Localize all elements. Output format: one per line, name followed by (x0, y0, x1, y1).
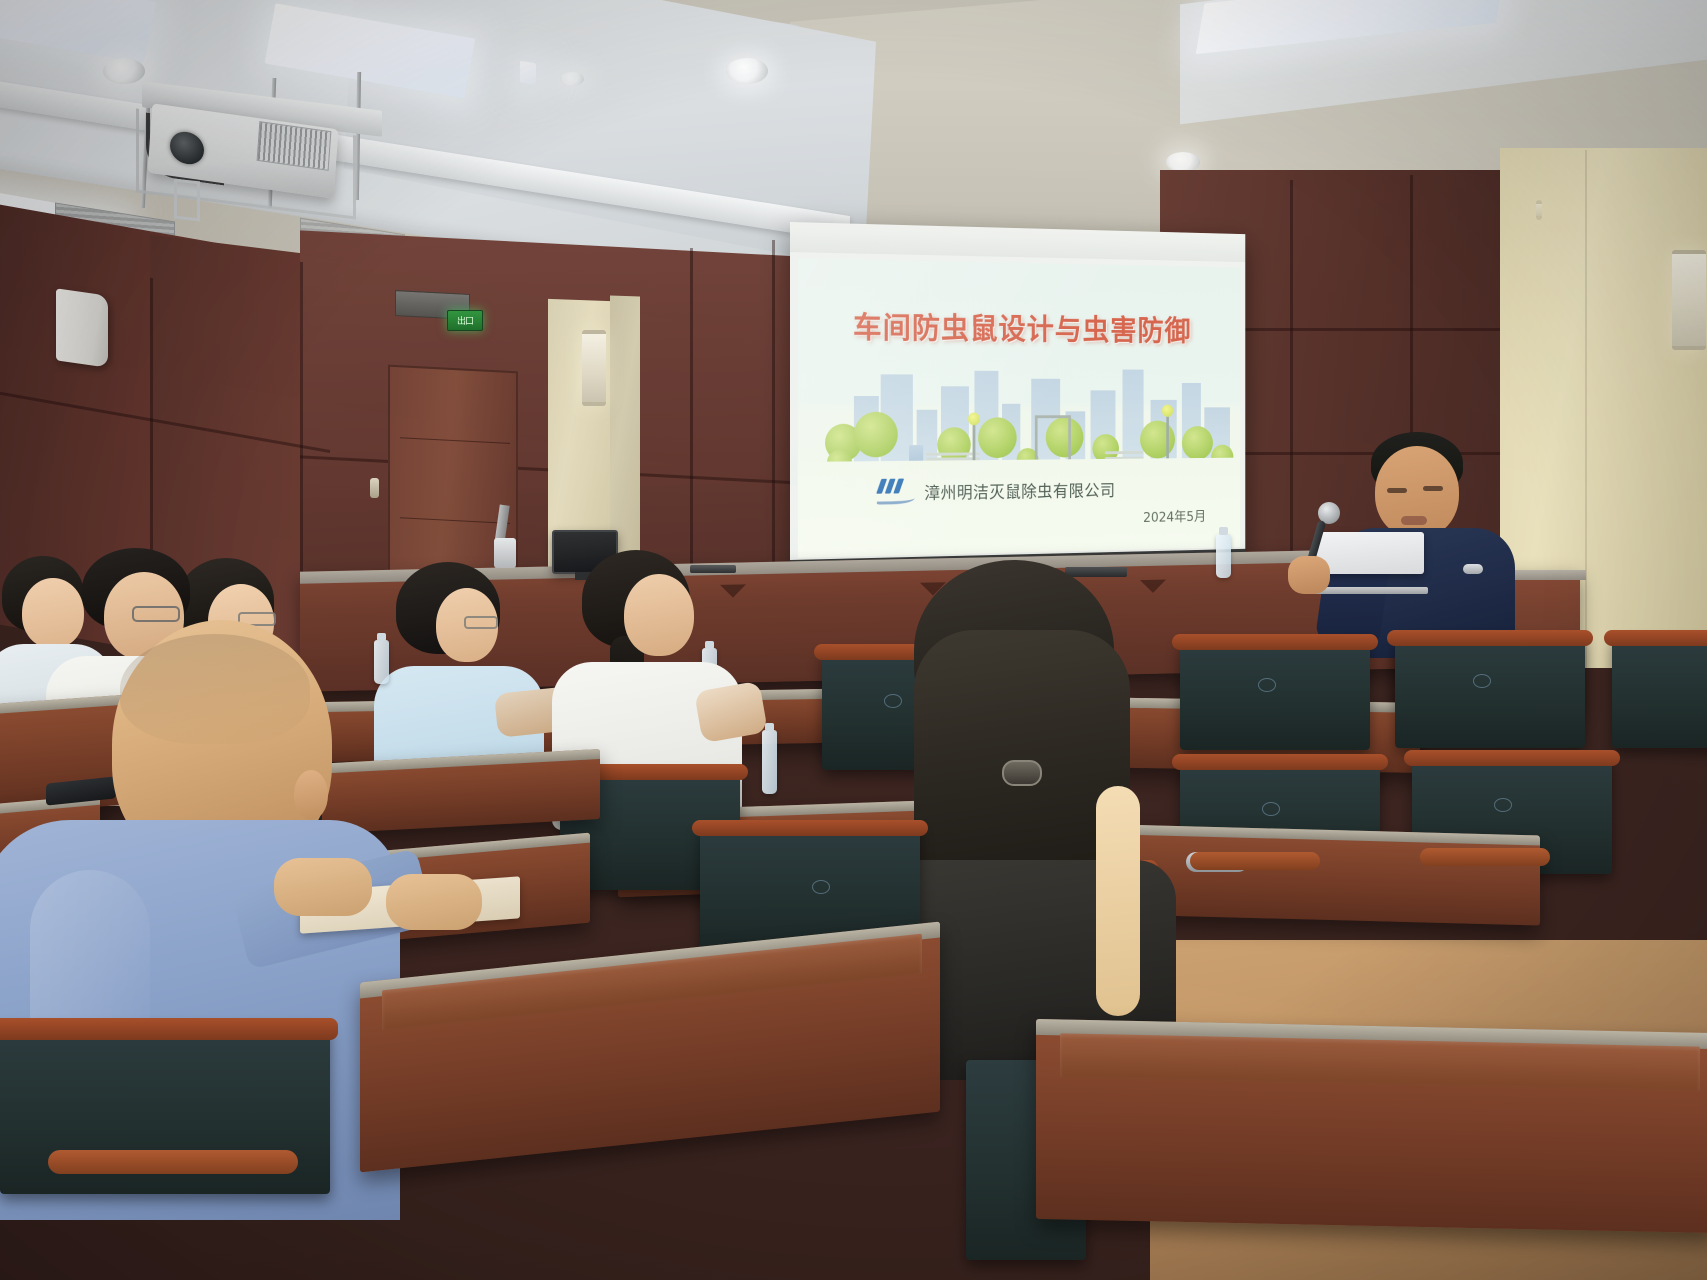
wall-seam (690, 248, 693, 588)
attendee-ear (294, 770, 328, 820)
chair-emblem-icon (1494, 798, 1512, 812)
wall-sconce-light (1672, 250, 1706, 350)
chair-armrest (1420, 848, 1550, 866)
chair-top-rail (1172, 634, 1378, 650)
projector-hanger (174, 179, 200, 222)
downlight-icon (103, 58, 145, 84)
chair-emblem-icon (1258, 678, 1276, 692)
slide-footer: 漳州明洁灭鼠除虫有限公司 2024年5月 (798, 458, 1240, 558)
chair-top-rail (1172, 754, 1388, 770)
slide-swing-set (1035, 415, 1071, 465)
audience-desk-row-2-right (1120, 825, 1540, 926)
chair-backrest (1180, 640, 1370, 750)
exit-sign: 出口 (447, 310, 483, 331)
wall-seam (1585, 150, 1587, 670)
presenter-laptop[interactable] (1316, 532, 1424, 594)
chair-top-rail (1604, 630, 1707, 646)
laptop-screen (1316, 532, 1424, 574)
chair-top-rail (692, 820, 928, 836)
chair-armrest (48, 1150, 298, 1174)
chair-emblem-icon (1262, 802, 1280, 816)
water-bottle[interactable] (1216, 534, 1231, 578)
hair-clip (1002, 760, 1042, 786)
door-panel-line (400, 517, 510, 524)
presenter-watch (1463, 564, 1483, 574)
downlight-icon (1166, 152, 1200, 172)
chair-top-rail (1387, 630, 1593, 646)
audience-chair[interactable] (1180, 640, 1370, 750)
wall-sconce-light (582, 330, 606, 406)
chair-top-rail (1404, 750, 1620, 766)
laptop-base (1312, 587, 1429, 594)
eyeglasses-icon (464, 616, 498, 629)
chair-emblem-icon (812, 880, 830, 894)
wall-seam (772, 240, 775, 580)
chair-armrest (1190, 852, 1320, 870)
exit-sign-label: 出口 (457, 314, 473, 327)
water-bottle[interactable] (762, 730, 777, 794)
downlight-icon (560, 72, 584, 86)
conference-room-photo: 出口 车间防虫鼠设计与虫害防御 (0, 0, 1707, 1280)
attendee-shoulder-bag (1096, 786, 1140, 1016)
slide-company-row: 漳州明洁灭鼠除虫有限公司 (877, 476, 1116, 505)
slide-company-name: 漳州明洁灭鼠除虫有限公司 (924, 476, 1115, 503)
presenter-hand (1288, 556, 1330, 594)
company-logo-icon (877, 478, 915, 504)
attendee-scalp-shading (120, 634, 310, 744)
wall-sconce-light (1536, 200, 1542, 220)
audience-chair[interactable] (1395, 636, 1585, 748)
ceiling-light-strip (520, 61, 536, 86)
slide-lamp-head (968, 413, 980, 426)
ceiling-projector (118, 88, 418, 218)
wall-speaker (56, 288, 108, 367)
chair-backrest (1612, 636, 1707, 748)
chair-emblem-icon (1473, 674, 1491, 688)
projection-screen: 车间防虫鼠设计与虫害防御 (790, 222, 1245, 574)
downlight-icon (726, 58, 768, 84)
attendee-hand (386, 874, 482, 930)
presentation-slide: 车间防虫鼠设计与虫害防御 (798, 258, 1240, 558)
door-handle[interactable] (370, 478, 379, 498)
chair-top-rail (0, 1018, 338, 1040)
slide-title: 车间防虫鼠设计与虫害防御 (798, 302, 1240, 349)
audience-chair[interactable] (1612, 636, 1707, 748)
slide-lamp-head (1162, 405, 1173, 417)
chair-backrest (1395, 636, 1585, 748)
attendee-hand (274, 858, 372, 916)
door-panel-line (400, 437, 510, 444)
slide-date: 2024年5月 (1143, 507, 1206, 527)
wall-seam (1290, 180, 1293, 600)
